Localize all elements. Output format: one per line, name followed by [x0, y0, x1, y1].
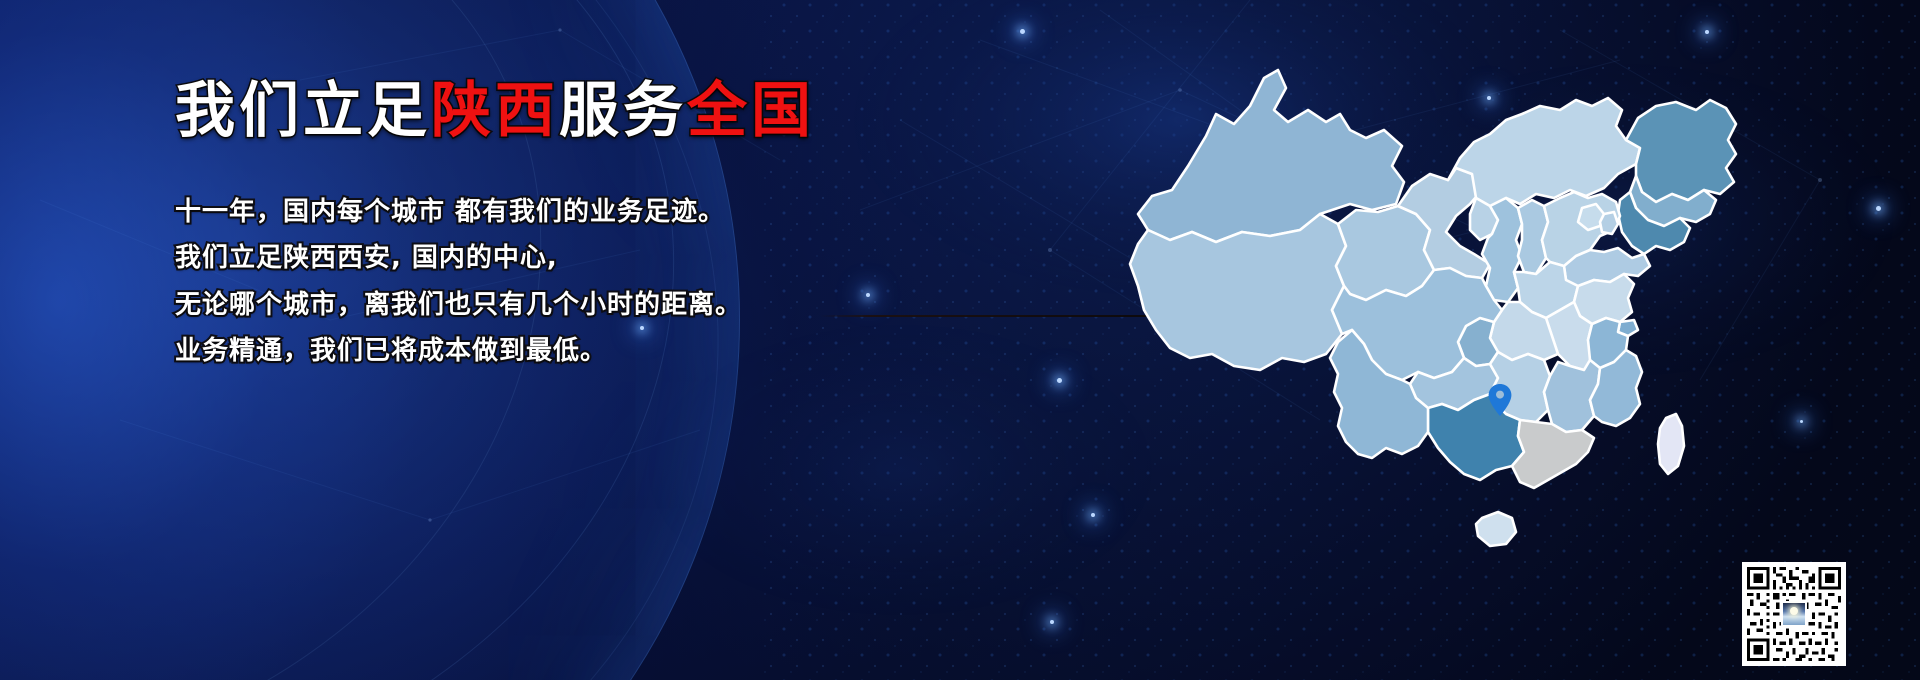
map-region-qinghai — [1336, 206, 1434, 300]
hero-banner: 我们立足陕西服务全国 十一年，国内每个城市 都有我们的业务足迹。 我们立足陕西西… — [0, 0, 1920, 680]
map-region-guangdong — [1512, 420, 1594, 488]
headline-segment-1: 我们立足 — [175, 76, 431, 146]
map-region-taiwan — [1658, 414, 1684, 474]
china-map — [1020, 18, 1820, 668]
subtitle-line-2: 我们立足陕西西安, 国内的中心, — [175, 235, 995, 281]
map-region-tibet — [1130, 214, 1346, 370]
map-region-tianjin — [1600, 212, 1618, 234]
map-region-hainan — [1476, 512, 1516, 546]
subtitle-line-1: 十一年，国内每个城市 都有我们的业务足迹。 — [175, 189, 995, 235]
subtitle-line-4: 业务精通，我们已将成本做到最低。 — [175, 328, 995, 374]
glow-dot — [1876, 206, 1881, 211]
headline-segment-4: 全国 — [687, 76, 815, 146]
location-pin-icon — [1487, 383, 1513, 417]
qr-code[interactable] — [1742, 562, 1846, 666]
map-region-inner-mongolia — [1448, 98, 1640, 206]
copy-block: 我们立足陕西服务全国 十一年，国内每个城市 都有我们的业务足迹。 我们立足陕西西… — [175, 78, 995, 374]
headline-segment-2: 陕西 — [431, 76, 559, 146]
subtitle-line-3: 无论哪个城市，离我们也只有几个小时的距离。 — [175, 282, 995, 328]
page-title: 我们立足陕西服务全国 — [175, 78, 995, 145]
qr-logo-icon — [1781, 601, 1807, 627]
subtitle-lines: 十一年，国内每个城市 都有我们的业务足迹。 我们立足陕西西安, 国内的中心, 无… — [175, 189, 995, 374]
map-region-heilongjiang — [1626, 100, 1736, 202]
headline-segment-3: 服务 — [559, 76, 687, 146]
